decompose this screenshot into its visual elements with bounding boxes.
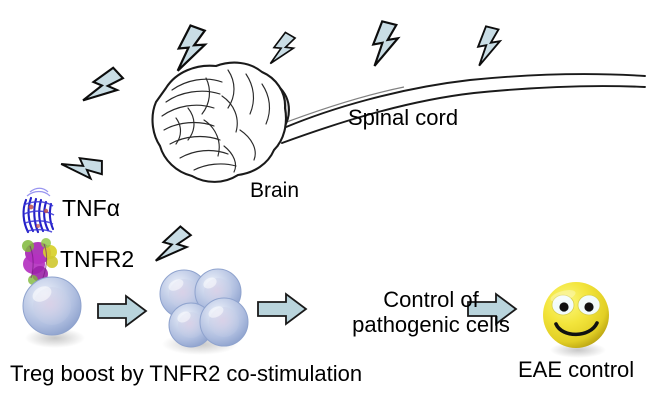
block-arrow-icon bbox=[98, 296, 146, 326]
tnfr2-label: TNFR2 bbox=[60, 247, 134, 273]
block-arrow-icon bbox=[258, 294, 306, 324]
figure-caption: Treg boost by TNFR2 co-stimulation bbox=[10, 362, 362, 387]
brain-label: Brain bbox=[250, 179, 299, 203]
tnf-alpha-label: TNFα bbox=[62, 196, 120, 222]
eae-control-label: EAE control bbox=[518, 358, 634, 383]
control-of-pathogenic-cells-label: Control of pathogenic cells bbox=[346, 288, 516, 337]
figure-canvas: Brain Spinal cord TNFα TNFR2 Control of … bbox=[0, 0, 652, 418]
spinal-cord-label: Spinal cord bbox=[348, 106, 458, 131]
